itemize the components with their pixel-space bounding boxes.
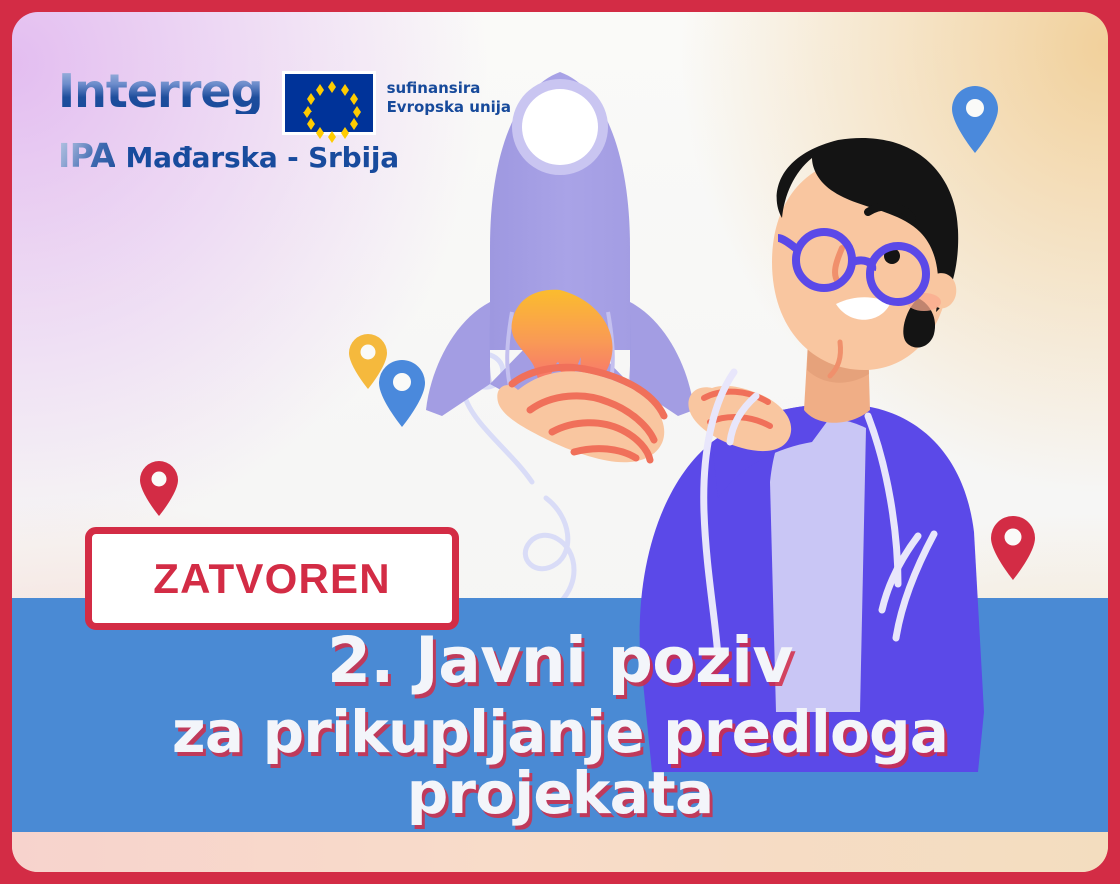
headline-line-1: 2. Javni poziv bbox=[12, 628, 1108, 694]
interreg-wordmark: Interreg bbox=[58, 70, 263, 114]
eu-flag-icon bbox=[285, 74, 373, 132]
status-badge-label: ZATVOREN bbox=[153, 555, 390, 603]
logo-top-row: Interreg bbox=[58, 70, 511, 132]
ipa-label: IPA bbox=[58, 136, 115, 175]
programme-area-label: Mađarska - Srbija bbox=[125, 141, 399, 174]
logo-bottom-row: IPA Mađarska - Srbija bbox=[58, 136, 511, 175]
headline-block: 2. Javni poziv za prikupljanje predloga … bbox=[12, 628, 1108, 824]
interreg-logo: Interreg bbox=[58, 70, 511, 175]
eu-funding-block: sufinansira Evropska unija bbox=[285, 70, 511, 132]
campaign-banner: Interreg bbox=[0, 0, 1120, 884]
status-badge: ZATVOREN bbox=[85, 527, 459, 630]
banner-canvas: Interreg bbox=[12, 12, 1108, 872]
bottom-gradient-strip bbox=[12, 832, 1108, 872]
headline-line-2: za prikupljanje predloga projekata bbox=[12, 702, 1108, 824]
eu-funding-caption: sufinansira Evropska unija bbox=[387, 74, 511, 117]
